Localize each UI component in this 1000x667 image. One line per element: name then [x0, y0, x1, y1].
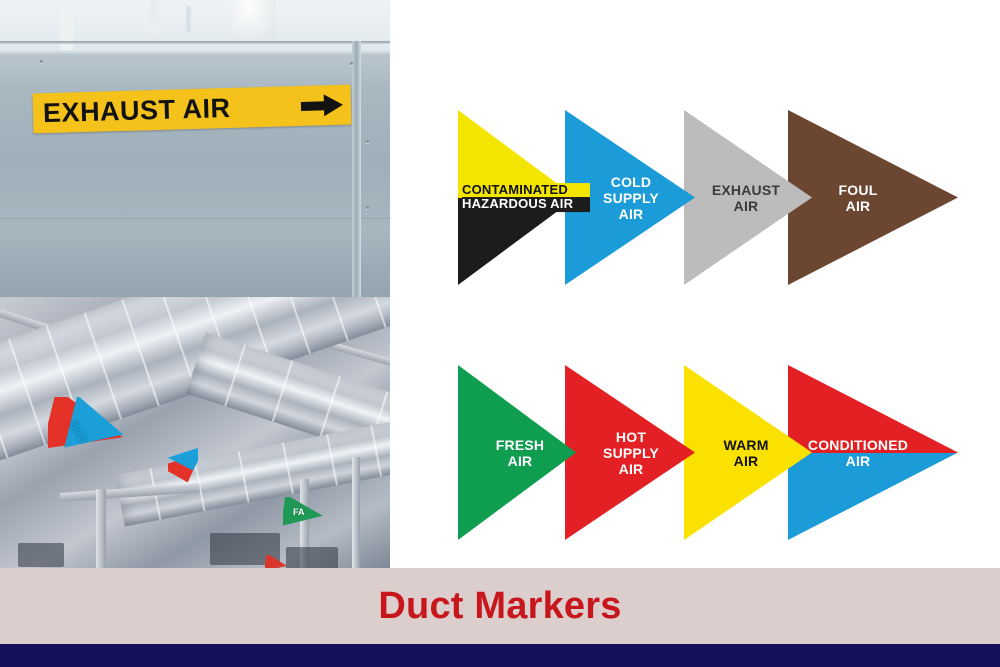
- arrow-label-line: COLD: [579, 173, 683, 189]
- equipment-shadow: [286, 547, 338, 568]
- duct-seam: [0, 41, 390, 44]
- ceiling-duct-icon: [230, 0, 276, 40]
- arrow-row-top: CONTAMINATEDHAZARDOUS AIRCOLDSUPPLYAIREX…: [390, 110, 1000, 285]
- duct-rivet: [40, 60, 43, 63]
- duct-marker-arrow-conditioned-air: CONDITIONEDAIR: [788, 365, 958, 540]
- page-root: EXHAUST AIR: [0, 0, 1000, 667]
- arrow-label-contaminated-hazardous-air: CONTAMINATEDHAZARDOUS AIR: [462, 183, 590, 213]
- duct-marker-arrow-foul-air: FOULAIR: [788, 110, 958, 285]
- arrow-label-line: EXHAUST: [696, 181, 796, 197]
- duct-marker-sad: SAD: [48, 397, 124, 459]
- arrow-row-bottom: FRESHAIRHOTSUPPLYAIRWARMAIRCONDITIONEDAI…: [390, 365, 1000, 540]
- arrow-label-line: FRESH: [464, 436, 576, 452]
- duct-label-exhaust-air: EXHAUST AIR: [33, 85, 352, 134]
- duct-marker-arrow-fresh-air: FRESHAIR: [458, 365, 576, 540]
- photo-exhaust-duct: EXHAUST AIR: [0, 0, 390, 297]
- duct-seam: [0, 218, 390, 220]
- caption-banner: Duct Markers: [0, 568, 1000, 644]
- duct-marker-fa: FA: [283, 497, 323, 529]
- arrow-label-line: AIR: [464, 453, 576, 469]
- duct-marker-diagram: CONTAMINATEDHAZARDOUS AIRCOLDSUPPLYAIREX…: [390, 0, 1000, 568]
- arrow-label-line: AIR: [802, 198, 914, 214]
- spiral-duct: [115, 413, 390, 527]
- arrow-label-hot-supply-air: HOTSUPPLYAIR: [579, 428, 683, 476]
- arrow-label-conditioned-air: CONDITIONEDAIR: [802, 436, 914, 468]
- duct-label-text: EXHAUST AIR: [43, 92, 231, 128]
- arrow-label-line: HAZARDOUS AIR: [462, 198, 590, 213]
- arrow-label-warm-air: WARMAIR: [696, 436, 796, 468]
- equipment-shadow: [18, 543, 64, 567]
- arrow-label-line: SUPPLY: [579, 189, 683, 205]
- arrow-label-foul-air: FOULAIR: [802, 181, 914, 213]
- duct-marker-arrow-contaminated-hazardous-air: CONTAMINATEDHAZARDOUS AIR: [458, 110, 576, 285]
- support-post: [96, 489, 106, 568]
- arrow-label-line: AIR: [579, 206, 683, 222]
- ceiling-pipe-icon: [150, 0, 159, 36]
- right-arrow-icon: [301, 93, 344, 118]
- duct-rivet: [350, 62, 353, 65]
- bottom-accent-bar: [0, 644, 1000, 667]
- arrow-label-line: AIR: [802, 453, 914, 469]
- arrow-label-cold-supply-air: COLDSUPPLYAIR: [579, 173, 683, 221]
- duct-marker-small: [265, 555, 287, 568]
- arrow-label-line: CONTAMINATED: [462, 183, 590, 198]
- arrow-label-line: FOUL: [802, 181, 914, 197]
- page-title: Duct Markers: [378, 585, 621, 628]
- arrow-label-line: AIR: [579, 461, 683, 477]
- arrow-label-line: AIR: [696, 198, 796, 214]
- arrow-label-line: WARM: [696, 436, 796, 452]
- arrow-label-exhaust-air: EXHAUSTAIR: [696, 181, 796, 213]
- support-post: [352, 457, 360, 568]
- arrow-label-line: HOT: [579, 428, 683, 444]
- duct-seam: [352, 41, 361, 297]
- photo-industrial-ducts: SAD FA: [0, 297, 390, 568]
- arrow-label-fresh-air: FRESHAIR: [464, 436, 576, 468]
- ceiling-pipe-icon: [186, 6, 191, 32]
- arrow-label-line: CONDITIONED: [802, 436, 914, 452]
- duct-rivet: [366, 140, 369, 143]
- duct-marker-arrow-exhaust-air: EXHAUSTAIR: [684, 110, 812, 285]
- duct-marker-arrow-warm-air: WARMAIR: [684, 365, 812, 540]
- arrow-label-line: SUPPLY: [579, 444, 683, 460]
- duct-marker-secondary: [168, 439, 198, 499]
- arrow-label-line: AIR: [696, 453, 796, 469]
- duct-marker-fa-label: FA: [293, 507, 305, 517]
- duct-marker-arrow-hot-supply-air: HOTSUPPLYAIR: [565, 365, 695, 540]
- duct-rivet: [366, 206, 369, 209]
